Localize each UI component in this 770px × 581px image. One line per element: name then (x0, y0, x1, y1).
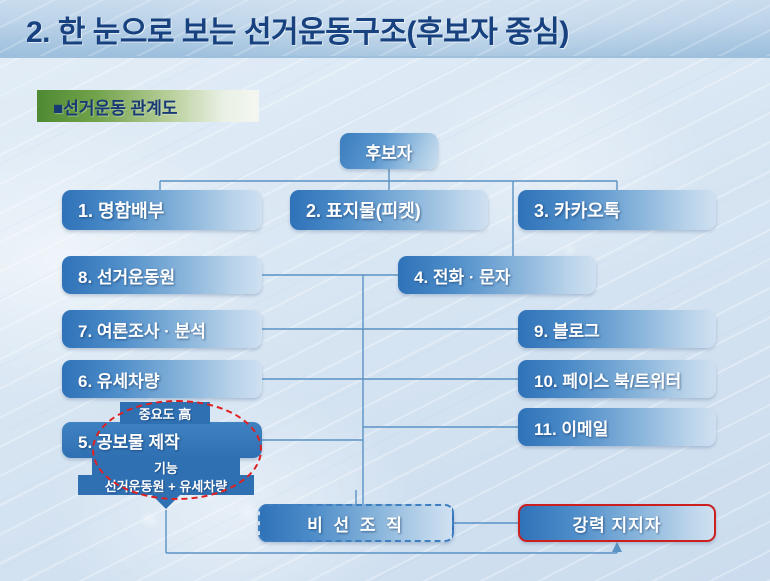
node-label: 6. 유세차량 (62, 367, 159, 392)
callout-importance-label: 중요도 高 (139, 404, 192, 423)
node-label: 5. 공보물 제작 (62, 428, 180, 453)
node-kakaotalk[interactable]: 3. 카카오톡 (518, 190, 716, 230)
node-label: 9. 블로그 (518, 317, 600, 342)
node-campaign-vehicle[interactable]: 6. 유세차량 (62, 360, 262, 398)
node-publicity-material-production[interactable]: 5. 공보물 제작 (62, 422, 262, 458)
node-label: 4. 전화 · 문자 (398, 263, 511, 288)
arrowhead-to-supporter (612, 542, 622, 552)
callout-importance-badge: 중요도 高 (120, 402, 210, 424)
node-strong-supporter[interactable]: 강력 지지자 (518, 504, 716, 542)
callout-function-detail-badge: 선거운동원 + 유세차량 (78, 475, 254, 495)
node-label: 8. 선거운동원 (62, 263, 175, 288)
node-non-organization[interactable]: 비 선 조 직 (258, 504, 454, 542)
callout-function-detail-label: 선거운동원 + 유세차량 (105, 476, 227, 495)
node-label: 11. 이메일 (518, 415, 608, 440)
node-facebook-twitter[interactable]: 10. 페이스 북/트위터 (518, 360, 716, 398)
node-label: 1. 명함배부 (62, 197, 164, 223)
node-email[interactable]: 11. 이메일 (518, 408, 716, 446)
node-phone-sms[interactable]: 4. 전화 · 문자 (398, 256, 596, 294)
callout-down-arrow-icon (152, 495, 180, 509)
node-signage-picket[interactable]: 2. 표지물(피켓) (290, 190, 488, 230)
node-candidate[interactable]: 후보자 (340, 133, 438, 169)
node-label: 비 선 조 직 (307, 511, 405, 536)
node-candidate-label: 후보자 (366, 139, 413, 164)
node-blog[interactable]: 9. 블로그 (518, 310, 716, 348)
node-label: 7. 여론조사 · 분석 (62, 317, 206, 342)
node-label: 3. 카카오톡 (518, 197, 620, 223)
node-business-card-distribution[interactable]: 1. 명함배부 (62, 190, 262, 230)
node-label: 강력 지지자 (573, 511, 662, 536)
node-polling-analysis[interactable]: 7. 여론조사 · 분석 (62, 310, 262, 348)
node-label: 10. 페이스 북/트위터 (518, 367, 681, 392)
node-label: 2. 표지물(피켓) (290, 197, 421, 223)
node-campaign-staff[interactable]: 8. 선거운동원 (62, 256, 262, 294)
slide-canvas: 2. 한 눈으로 보는 선거운동구조(후보자 중심) ■선거운동 관계도 (0, 0, 770, 581)
